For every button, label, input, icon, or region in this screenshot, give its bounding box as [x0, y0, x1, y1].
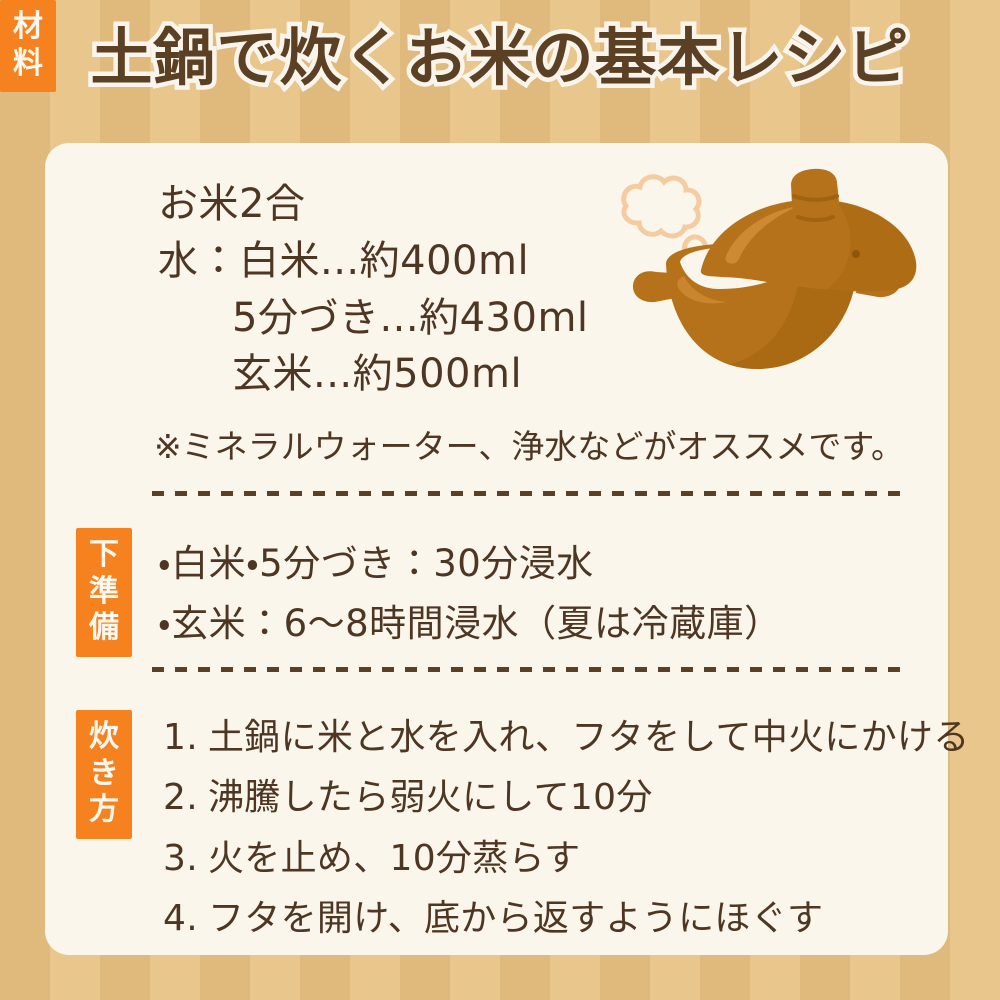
cooking-step: 4. フタを開け、底から返すようにほぐす [162, 889, 970, 949]
badge-ingredients-char-0: 材 [0, 9, 56, 46]
badge-preparation-char-2: 備 [76, 610, 132, 647]
preparation-line: ・玄米：6〜8時間浸水（夏は冷蔵庫） [158, 594, 782, 654]
infographic-page: 土鍋で炊くお米の基本レシピ 材 料 下 準 備 炊 き 方 お米2合 水：白米.… [0, 0, 1000, 1000]
badge-how-to-cook: 炊 き 方 [76, 710, 132, 839]
cooking-step: 2. 沸騰したら弱火にして10分 [162, 768, 970, 828]
badge-cook-char-1: き [76, 756, 132, 793]
cooking-step-number: 4. [162, 889, 208, 949]
badge-cook-char-2: 方 [76, 792, 132, 829]
ingredient-line: お米2合 [158, 176, 589, 233]
section-divider [152, 667, 904, 672]
badge-preparation-char-1: 準 [76, 574, 132, 611]
donabe-illustration [588, 160, 940, 422]
cooking-step-text: 火を止め、10分蒸らす [208, 829, 580, 889]
badge-ingredients-char-1: 料 [0, 46, 56, 83]
cooking-step-number: 3. [162, 829, 208, 889]
cooking-steps-list: 1. 土鍋に米と水を入れ、フタをして中火にかける 2. 沸騰したら弱火にして10… [162, 708, 970, 950]
ingredient-line: 5分づき...約430ml [158, 290, 589, 347]
cooking-step: 3. 火を止め、10分蒸らす [162, 829, 970, 889]
cooking-step: 1. 土鍋に米と水を入れ、フタをして中火にかける [162, 708, 970, 768]
cooking-step-text: 沸騰したら弱火にして10分 [208, 768, 653, 828]
cooking-step-number: 2. [162, 768, 208, 828]
badge-ingredients: 材 料 [0, 0, 56, 92]
badge-preparation-char-0: 下 [76, 537, 132, 574]
cooking-step-text: フタを開け、底から返すようにほぐす [208, 889, 823, 949]
preparation-line: ・白米・5分づき：30分浸水 [158, 534, 782, 594]
preparation-list: ・白米・5分づき：30分浸水 ・玄米：6〜8時間浸水（夏は冷蔵庫） [158, 534, 782, 654]
page-title: 土鍋で炊くお米の基本レシピ [90, 22, 909, 93]
ingredient-line: 水：白米...約400ml [158, 233, 589, 290]
ingredients-note: ※ミネラルウォーター、浄水などがオススメです。 [154, 420, 904, 468]
cooking-step-number: 1. [162, 708, 208, 768]
pot-lid-knob [791, 169, 839, 218]
section-divider [152, 491, 904, 496]
pot-lid-dot [852, 250, 860, 258]
page-title-container: 土鍋で炊くお米の基本レシピ [0, 22, 1000, 93]
badge-preparation: 下 準 備 [76, 528, 132, 657]
badge-cook-char-0: 炊 [76, 719, 132, 756]
ingredients-list: お米2合 水：白米...約400ml 5分づき...約430ml 玄米...約5… [158, 176, 589, 403]
cooking-step-text: 土鍋に米と水を入れ、フタをして中火にかける [208, 708, 970, 768]
ingredient-line: 玄米...約500ml [158, 346, 589, 403]
